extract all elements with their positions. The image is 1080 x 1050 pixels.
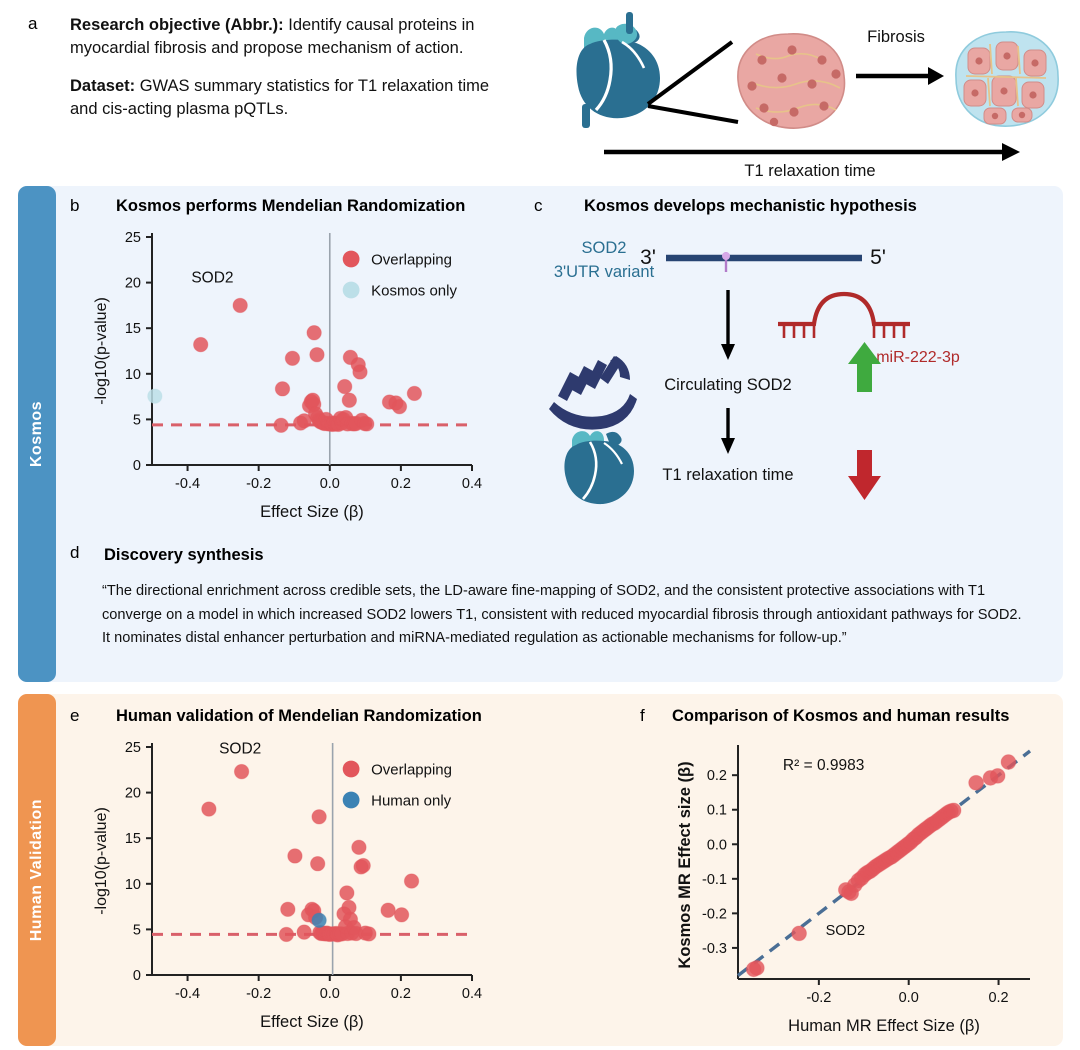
fibrotic-tissue-icon	[956, 32, 1058, 126]
panel-b-volcano-plot: 0510152025-0.4-0.20.00.20.4SOD2Effect Si…	[80, 225, 480, 525]
svg-text:-0.2: -0.2	[246, 986, 271, 1002]
flow-arrow-2	[721, 408, 735, 454]
panel-d-letter: d	[70, 543, 79, 563]
svg-text:0: 0	[133, 458, 141, 474]
three-prime-label: 3'	[640, 246, 656, 269]
svg-text:10: 10	[125, 877, 141, 893]
flow-arrow-1	[721, 290, 735, 360]
mirna-icon	[778, 294, 910, 338]
svg-text:Effect Size (β): Effect Size (β)	[260, 1013, 364, 1031]
svg-text:25: 25	[125, 740, 141, 756]
panel-a: a Research objective (Abbr.): Identify c…	[0, 0, 1080, 180]
svg-text:-0.2: -0.2	[806, 990, 831, 1006]
circulating-sod2-label: Circulating SOD2	[664, 376, 791, 394]
svg-text:SOD2: SOD2	[219, 740, 261, 757]
heart-icon-small	[564, 431, 634, 504]
discovery-synthesis-quote: “The directional enrichment across credi…	[102, 580, 1032, 651]
panel-c-letter: c	[534, 196, 543, 216]
svg-text:0.2: 0.2	[391, 986, 411, 1002]
svg-text:0.4: 0.4	[462, 986, 482, 1002]
svg-text:0.0: 0.0	[707, 837, 727, 853]
panel-a-letter: a	[28, 14, 37, 34]
healthy-tissue-icon	[738, 34, 845, 128]
svg-text:25: 25	[125, 230, 141, 246]
t1-relaxation-axis-arrow	[604, 143, 1020, 161]
svg-text:20: 20	[125, 276, 141, 292]
panel-c-mechanism-diagram: SOD2 3'UTR variant 3' 5' miR-222-3p	[520, 228, 1065, 508]
t1-relaxation-time-label: T1 relaxation time	[662, 466, 793, 484]
svg-text:-0.4: -0.4	[175, 476, 200, 492]
svg-text:-0.3: -0.3	[702, 941, 727, 957]
panel-f-title: Comparison of Kosmos and human results	[672, 707, 1009, 726]
research-objective-label: Research objective (Abbr.):	[70, 16, 284, 34]
sidebar-label-kosmos: Kosmos	[18, 186, 56, 682]
svg-text:Kosmos MR Effect size (β): Kosmos MR Effect size (β)	[676, 761, 694, 968]
fibrosis-schematic: Fibrosis	[560, 4, 1060, 179]
dataset-paragraph: Dataset: GWAS summary statistics for T1 …	[70, 75, 495, 122]
panel-f-scatter-plot: -0.3-0.2-0.10.00.10.2-0.20.00.2R² = 0.99…	[660, 735, 1060, 1035]
svg-text:0.2: 0.2	[988, 990, 1008, 1006]
sidebar-label-human-validation-text: Human Validation	[28, 799, 46, 941]
svg-text:Kosmos only: Kosmos only	[371, 283, 457, 300]
svg-text:-log10(p-value): -log10(p-value)	[93, 807, 110, 915]
svg-text:-0.2: -0.2	[702, 906, 727, 922]
svg-text:10: 10	[125, 367, 141, 383]
svg-text:SOD2: SOD2	[826, 923, 866, 939]
sod2-gene-label: SOD2	[582, 239, 627, 257]
svg-text:15: 15	[125, 831, 141, 847]
panel-b-letter: b	[70, 196, 79, 216]
svg-text:Human only: Human only	[371, 793, 452, 810]
svg-text:0: 0	[133, 968, 141, 984]
svg-text:Overlapping: Overlapping	[371, 252, 452, 269]
svg-text:-log10(p-value): -log10(p-value)	[93, 297, 110, 405]
svg-text:15: 15	[125, 321, 141, 337]
down-arrow-icon	[848, 450, 881, 500]
svg-text:0.2: 0.2	[391, 476, 411, 492]
dataset-label: Dataset:	[70, 77, 135, 95]
research-objective-paragraph: Research objective (Abbr.): Identify cau…	[70, 14, 495, 61]
sidebar-label-kosmos-text: Kosmos	[28, 401, 46, 467]
svg-text:R² = 0.9983: R² = 0.9983	[783, 757, 864, 774]
protein-icon	[549, 356, 637, 430]
svg-text:-0.2: -0.2	[246, 476, 271, 492]
panel-a-text-block: Research objective (Abbr.): Identify cau…	[70, 14, 495, 136]
panel-e-letter: e	[70, 706, 79, 726]
svg-text:0.1: 0.1	[707, 803, 727, 819]
svg-text:5: 5	[133, 922, 141, 938]
svg-text:20: 20	[125, 786, 141, 802]
panel-d-title: Discovery synthesis	[104, 546, 264, 565]
svg-text:0.0: 0.0	[320, 476, 340, 492]
svg-text:5: 5	[133, 412, 141, 428]
panel-e-volcano-plot: 0510152025-0.4-0.20.00.20.4SOD2Effect Si…	[80, 735, 480, 1035]
svg-text:0.0: 0.0	[320, 986, 340, 1002]
panel-b-title: Kosmos performs Mendelian Randomization	[116, 197, 465, 216]
svg-text:Human MR Effect Size (β): Human MR Effect Size (β)	[788, 1017, 980, 1035]
fibrosis-label: Fibrosis	[867, 28, 925, 46]
panel-c-title: Kosmos develops mechanistic hypothesis	[584, 197, 917, 216]
panel-e-title: Human validation of Mendelian Randomizat…	[116, 707, 482, 726]
mirna-label: miR-222-3p	[876, 349, 960, 366]
fibrosis-arrow	[856, 67, 944, 85]
panel-f-letter: f	[640, 706, 645, 726]
magnify-pointer-lines	[648, 42, 738, 122]
svg-text:Overlapping: Overlapping	[371, 762, 452, 779]
t1-relaxation-axis-label: T1 relaxation time	[744, 162, 875, 180]
svg-text:Effect Size (β): Effect Size (β)	[260, 503, 364, 521]
svg-text:0.2: 0.2	[707, 768, 727, 784]
svg-text:-0.4: -0.4	[175, 986, 200, 1002]
sidebar-label-human-validation: Human Validation	[18, 694, 56, 1046]
svg-text:-0.1: -0.1	[702, 872, 727, 888]
five-prime-label: 5'	[870, 246, 886, 269]
svg-text:0.4: 0.4	[462, 476, 482, 492]
dna-strand-icon	[666, 252, 862, 272]
svg-text:0.0: 0.0	[899, 990, 919, 1006]
heart-icon	[577, 12, 661, 128]
svg-text:SOD2: SOD2	[191, 270, 233, 287]
